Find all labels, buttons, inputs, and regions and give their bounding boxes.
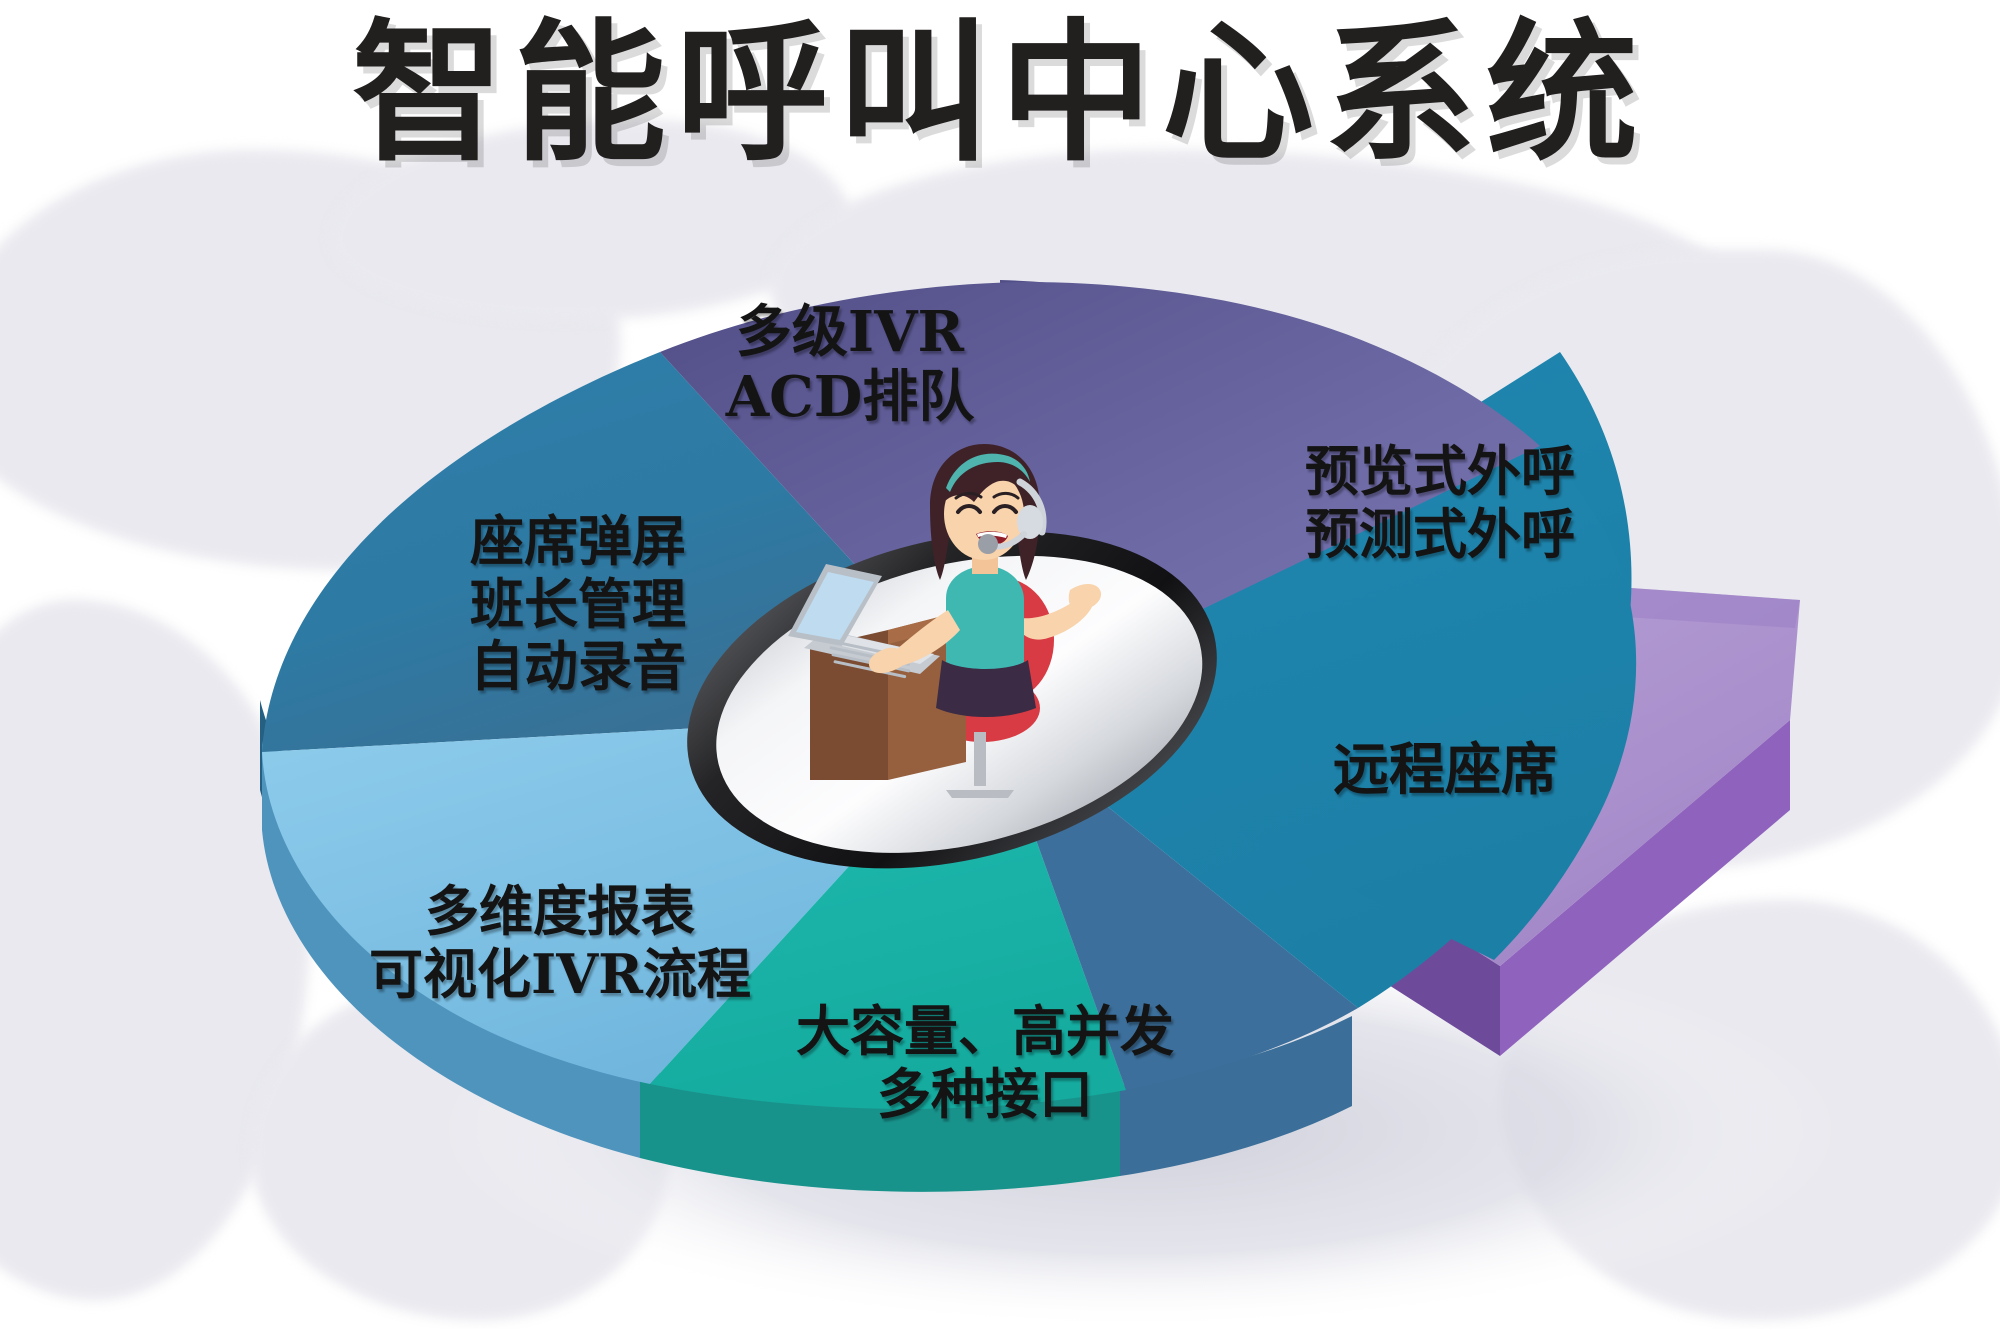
- slice-label-line: ACD排队: [726, 365, 975, 430]
- slice-label-high-capacity: 大容量、高并发 多种接口: [796, 1000, 1174, 1125]
- headset-microphone: [978, 534, 998, 554]
- office-chair-stem: [974, 732, 986, 786]
- slice-label-line: 大容量、高并发: [796, 1000, 1174, 1063]
- call-center-agent-illustration: [770, 440, 1190, 800]
- slice-label-multidimensional-reports: 多维度报表 可视化IVR流程: [369, 880, 751, 1005]
- slice-label-line: 多种接口: [796, 1063, 1174, 1126]
- slice-label-line: 可视化IVR流程: [369, 943, 751, 1006]
- slice-label-line: 多维度报表: [369, 880, 751, 943]
- slice-label-line: 自动录音: [470, 635, 686, 698]
- slice-label-line: 座席弹屏: [470, 510, 686, 573]
- agent-torso: [946, 566, 1024, 670]
- slice-label-line: 远程座席: [1333, 738, 1557, 803]
- slice-label-agent-screen-pop: 座席弹屏 班长管理 自动录音: [470, 510, 686, 698]
- slice-label-preview-predictive-dialing: 预览式外呼 预测式外呼: [1305, 440, 1575, 565]
- slice-label-line: 多级IVR: [726, 300, 975, 365]
- slice-label-line: 预览式外呼: [1305, 440, 1575, 503]
- slice-label-line: 预测式外呼: [1305, 503, 1575, 566]
- slice-label-multi-level-ivr: 多级IVR ACD排队: [726, 300, 975, 430]
- agent-right-hand: [1069, 584, 1101, 610]
- page-title: 智能呼叫中心系统: [0, 18, 2000, 170]
- slice-label-line: 班长管理: [470, 573, 686, 636]
- poster-canvas: 智能呼叫中心系统: [0, 0, 2000, 1329]
- slice-label-remote-agent: 远程座席: [1333, 738, 1557, 803]
- office-chair-base: [946, 790, 1014, 798]
